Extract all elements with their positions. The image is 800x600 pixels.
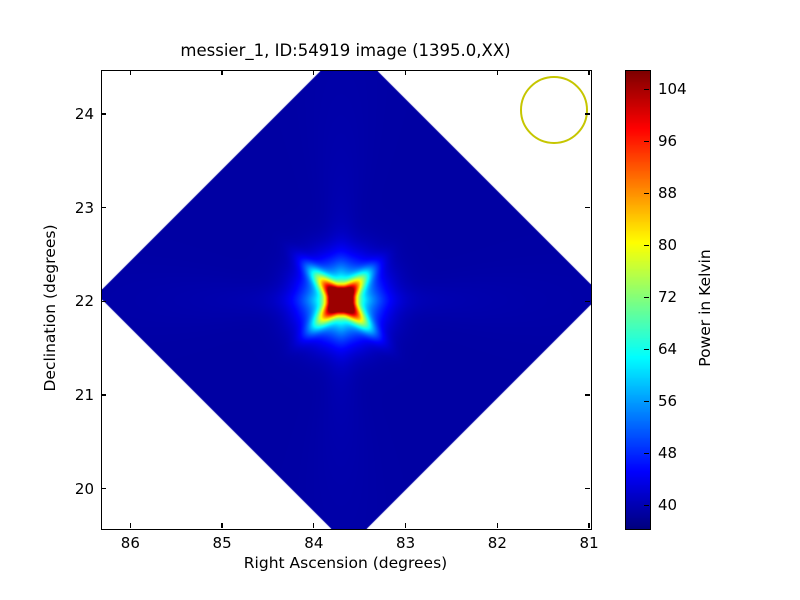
y-tick-mark <box>101 113 106 114</box>
colorbar-tick-label: 96 <box>658 132 677 150</box>
colorbar-tick-mark <box>644 505 649 506</box>
colorbar-tick-label: 80 <box>658 236 677 254</box>
y-tick-mark-right <box>585 207 590 208</box>
colorbar-gradient <box>626 71 650 529</box>
x-tick-mark <box>405 523 406 528</box>
x-tick-mark <box>588 523 589 528</box>
x-tick-mark-top <box>497 70 498 75</box>
x-axis-label: Right Ascension (degrees) <box>101 554 590 572</box>
colorbar-tick-mark <box>644 297 649 298</box>
sky-brightness-heatmap <box>102 71 591 529</box>
figure-canvas: messier_1, ID:54919 image (1395.0,XX) 86… <box>0 0 800 600</box>
x-tick-mark-top <box>588 70 589 75</box>
y-tick-label: 21 <box>60 386 94 404</box>
sky-image-axes[interactable] <box>101 70 592 530</box>
y-tick-label: 22 <box>60 292 94 310</box>
x-tick-mark <box>130 523 131 528</box>
x-tick-mark <box>497 523 498 528</box>
x-tick-mark-top <box>405 70 406 75</box>
colorbar-tick-label: 56 <box>658 392 677 410</box>
x-tick-label: 85 <box>213 534 232 552</box>
colorbar-tick-label: 48 <box>658 444 677 462</box>
colorbar-tick-label: 40 <box>658 496 677 514</box>
y-tick-mark <box>101 207 106 208</box>
x-tick-label: 82 <box>488 534 507 552</box>
colorbar-tick-label: 64 <box>658 340 677 358</box>
colorbar-tick-mark <box>644 349 649 350</box>
colorbar-tick-mark <box>644 401 649 402</box>
colorbar-tick-mark <box>644 245 649 246</box>
x-tick-label: 83 <box>396 534 415 552</box>
y-tick-label: 23 <box>60 199 94 217</box>
page-title: messier_1, ID:54919 image (1395.0,XX) <box>101 41 590 61</box>
colorbar-label: Power in Kelvin <box>696 78 714 538</box>
y-tick-mark-right <box>585 301 590 302</box>
y-tick-mark-right <box>585 113 590 114</box>
colorbar-tick-label: 104 <box>658 80 687 98</box>
y-tick-mark <box>101 394 106 395</box>
x-tick-mark-top <box>221 70 222 75</box>
colorbar-tick-mark <box>644 453 649 454</box>
colorbar-tick-label: 88 <box>658 184 677 202</box>
y-tick-mark-right <box>585 488 590 489</box>
y-tick-label: 20 <box>60 480 94 498</box>
y-tick-mark-right <box>585 394 590 395</box>
y-tick-mark <box>101 301 106 302</box>
colorbar-tick-mark <box>644 141 649 142</box>
colorbar[interactable] <box>625 70 651 530</box>
x-tick-label: 81 <box>580 534 599 552</box>
y-axis-label: Declination (degrees) <box>41 78 59 538</box>
y-tick-mark <box>101 488 106 489</box>
y-tick-label: 24 <box>60 105 94 123</box>
x-tick-mark <box>313 523 314 528</box>
x-tick-label: 86 <box>121 534 140 552</box>
colorbar-tick-mark <box>644 193 649 194</box>
x-tick-mark-top <box>313 70 314 75</box>
x-tick-mark <box>221 523 222 528</box>
colorbar-tick-label: 72 <box>658 288 677 306</box>
colorbar-tick-mark <box>644 89 649 90</box>
x-tick-mark-top <box>130 70 131 75</box>
x-tick-label: 84 <box>304 534 323 552</box>
